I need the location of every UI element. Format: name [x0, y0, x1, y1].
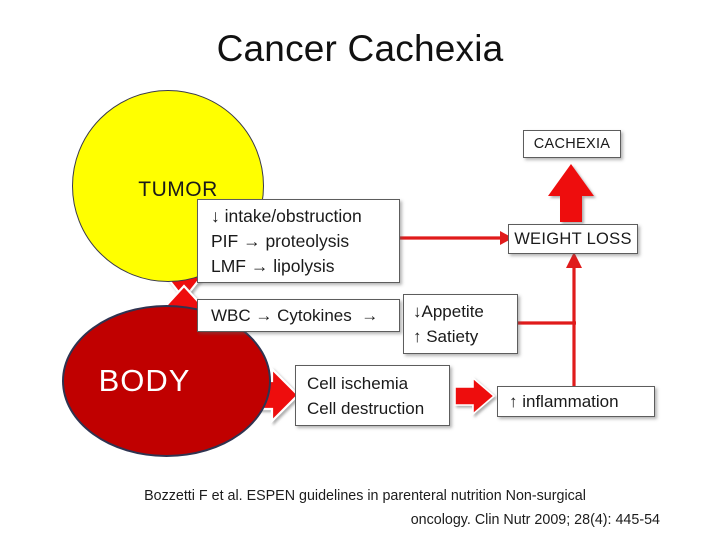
node-cachexia[interactable]: CACHEXIA: [523, 130, 621, 158]
intake-line-2: PIF → proteolysis: [211, 229, 399, 254]
wbc-line-1: WBC → Cytokines →: [211, 304, 399, 327]
citation-line-2: oncology. Clin Nutr 2009; 28(4): 445-54: [70, 508, 660, 532]
citation: Bozzetti F et al. ESPEN guidelines in pa…: [70, 484, 660, 532]
weight-loss-label: WEIGHT LOSS: [514, 228, 632, 251]
node-inflammation[interactable]: ↑ inflammation: [497, 386, 655, 417]
node-intake-obstruction[interactable]: ↓ intake/obstruction PIF → proteolysis L…: [197, 199, 400, 283]
cell-line-2: Cell destruction: [307, 396, 449, 421]
connector-inflammation-to-weightloss: [566, 252, 582, 386]
cachexia-label: CACHEXIA: [534, 133, 611, 156]
cell-line-1: Cell ischemia: [307, 371, 449, 396]
block-arrow-weightloss-to-cachexia: [548, 164, 594, 222]
node-wbc-cytokines[interactable]: WBC → Cytokines →: [197, 299, 400, 332]
intake-line-1: ↓ intake/obstruction: [211, 204, 399, 229]
node-body-label: BODY: [99, 363, 191, 399]
page-title: Cancer Cachexia: [0, 26, 720, 72]
connector-intake-to-weightloss: [400, 231, 513, 245]
node-cell-ischemia[interactable]: Cell ischemia Cell destruction: [295, 365, 450, 426]
node-weight-loss[interactable]: WEIGHT LOSS: [508, 224, 638, 254]
intake-line-3: LMF → lipolysis: [211, 254, 399, 279]
diagram-canvas: Cancer Cachexia: [0, 0, 720, 540]
node-appetite-satiety[interactable]: ↓Appetite ↑ Satiety: [403, 294, 518, 354]
citation-line-1: Bozzetti F et al. ESPEN guidelines in pa…: [70, 484, 660, 508]
inflammation-line-1: ↑ inflammation: [509, 390, 654, 413]
appetite-line-1: ↓Appetite: [413, 299, 517, 324]
block-arrow-cell-to-inflammation: [455, 378, 494, 414]
appetite-line-2: ↑ Satiety: [413, 324, 517, 349]
